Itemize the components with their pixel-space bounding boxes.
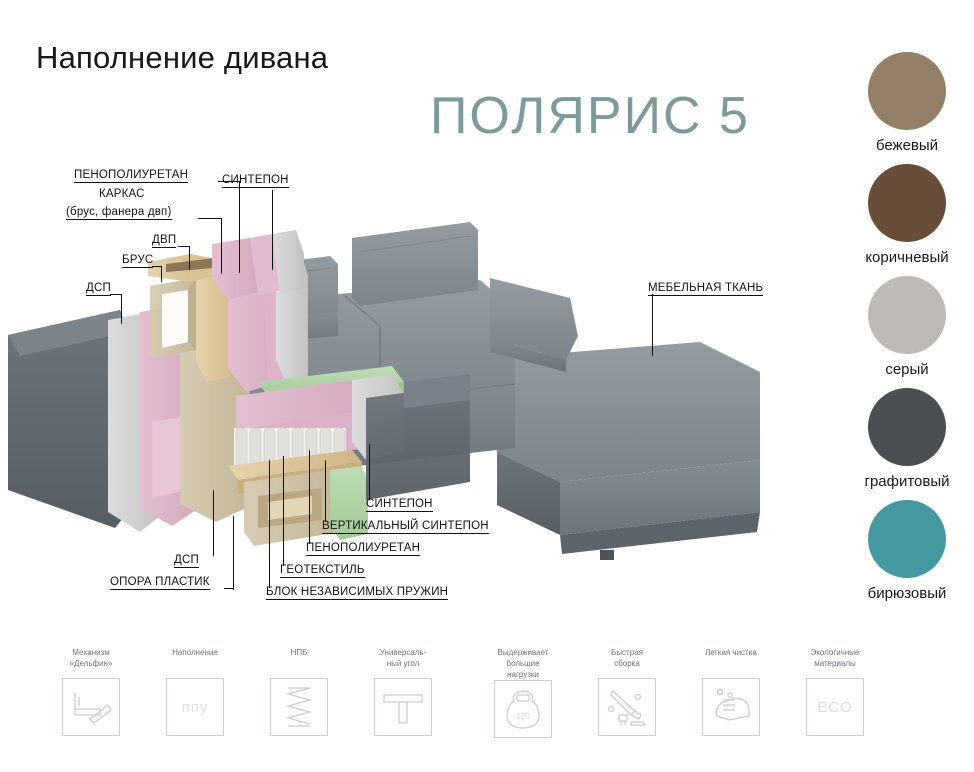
callout-mebelnaya-tkan: МЕБЕЛЬНАЯ ТКАНЬ — [648, 282, 763, 296]
ppu-glyph: ппу — [182, 699, 209, 716]
ppu-filling-icon: ппу — [166, 678, 224, 736]
leader-line — [221, 218, 222, 274]
callout-penopoliuretan-bottom: ПЕНОПОЛИУРЕТАН — [306, 542, 420, 556]
leader-line — [369, 444, 370, 500]
callout-geotekstil: ГЕОТЕКСТИЛЬ — [280, 564, 365, 578]
callout-dsp-bottom: ДСП — [174, 554, 199, 568]
callout-blok-pruzhin: БЛОК НЕЗАВИСИМЫХ ПРУЖИН — [266, 586, 448, 600]
leader-line — [161, 266, 162, 282]
quick-assembly-icon — [598, 678, 656, 736]
leader-line — [213, 490, 214, 556]
feature-universal-corner[interactable]: Универсаль- ный угол — [364, 648, 442, 736]
callout-opora-plastik: ОПОРА ПЛАСТИК — [110, 576, 210, 590]
callout-karkas: КАРКАС — [99, 188, 145, 201]
swatch-dot — [868, 276, 946, 354]
feature-quick-assembly[interactable]: Быстрая сборка — [588, 648, 666, 736]
feature-dolphin-mechanism[interactable]: Механизм «Дельфин» — [52, 648, 130, 736]
callout-brus: БРУС — [122, 254, 153, 268]
color-swatch-list: бежевый коричневый серый графитовый бирю… — [840, 52, 974, 612]
callout-vertikalny-sintepon: ВЕРТИКАЛЬНЫЙ СИНТЕПОН — [322, 520, 489, 534]
easy-cleaning-icon — [702, 678, 760, 736]
sofa-cutaway-diagram: ПЕНОПОЛИУРЕТАН КАРКАС (брус, фанера двп)… — [0, 160, 840, 620]
swatch-dot — [868, 164, 946, 242]
feature-caption: Быстрая сборка — [611, 648, 643, 678]
spring-block-icon — [270, 678, 328, 736]
leader-line — [269, 460, 270, 588]
swatch-label: серый — [885, 361, 928, 378]
swatch-beige[interactable]: бежевый — [868, 52, 946, 154]
leader-line — [121, 294, 122, 324]
weight-value: 120 — [516, 712, 530, 721]
weight-load-icon: 120 — [494, 680, 552, 738]
feature-weight-load[interactable]: Выдерживает большие нагрузки 120 — [484, 648, 562, 738]
eco-glyph: ECO — [817, 699, 853, 716]
feature-caption: Экологичные материалы — [811, 648, 860, 678]
callout-sintepon-top: СИНТЕПОН — [222, 174, 289, 188]
leader-line — [325, 460, 326, 522]
swatch-graphite[interactable]: графитовый — [864, 388, 949, 490]
feature-spring-block[interactable]: НПБ — [260, 648, 338, 736]
callout-dvp: ДВП — [152, 234, 176, 248]
swatch-label: бежевый — [876, 137, 938, 154]
leader-line — [272, 190, 273, 270]
feature-easy-cleaning[interactable]: Легкая чистка — [692, 648, 770, 736]
callout-sintepon-bottom: СИНТЕПОН — [366, 498, 433, 512]
leader-line — [239, 181, 240, 273]
feature-caption: Наполнение — [172, 648, 218, 678]
callout-karkas-sub: (брус, фанера двп) — [66, 206, 172, 220]
leader-line — [652, 294, 653, 356]
feature-list-left: Механизм «Дельфин» Наполнение ппу НПБ — [52, 648, 442, 736]
feature-list-right: Выдерживает большие нагрузки 120 Быстрая… — [484, 648, 874, 738]
dolphin-mechanism-icon — [62, 678, 120, 736]
leader-line — [309, 450, 310, 544]
feature-caption: Легкая чистка — [705, 648, 757, 678]
feature-caption: Универсаль- ный угол — [380, 648, 427, 678]
model-title: ПОЛЯРИС 5 — [430, 86, 750, 146]
swatch-label: графитовый — [864, 473, 949, 490]
swatch-label: бирюзовый — [868, 585, 947, 602]
feature-caption: Механизм «Дельфин» — [70, 648, 113, 678]
feature-caption: НПБ — [291, 648, 308, 678]
leader-line — [233, 516, 234, 590]
leader-line — [189, 246, 190, 270]
callout-dsp-top: ДСП — [86, 282, 111, 296]
universal-corner-icon — [374, 678, 432, 736]
swatch-brown[interactable]: коричневый — [865, 164, 948, 266]
swatch-dot — [868, 388, 946, 466]
callout-penopoliuretan-top: ПЕНОПОЛИУРЕТАН — [74, 169, 188, 183]
swatch-dot — [868, 500, 946, 578]
feature-caption: Выдерживает большие нагрузки — [498, 648, 549, 680]
page-title: Наполнение дивана — [36, 40, 328, 76]
swatch-gray[interactable]: серый — [868, 276, 946, 378]
swatch-dot — [868, 52, 946, 130]
leader-line — [198, 218, 222, 219]
feature-eco-materials[interactable]: Экологичные материалы ECO — [796, 648, 874, 736]
swatch-label: коричневый — [865, 249, 948, 266]
leader-line — [283, 456, 284, 566]
swatch-turquoise[interactable]: бирюзовый — [868, 500, 947, 602]
eco-materials-icon: ECO — [806, 678, 864, 736]
feature-ppu-filling[interactable]: Наполнение ппу — [156, 648, 234, 736]
